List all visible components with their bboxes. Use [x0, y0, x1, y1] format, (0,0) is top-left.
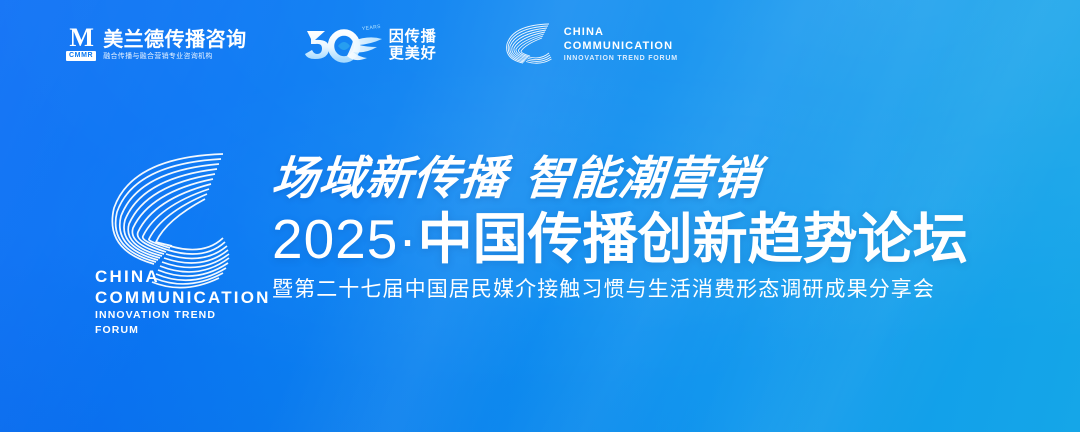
- anniversary-logo: YEARS 因传播 更美好: [303, 21, 437, 67]
- event-slogan: 场域新传播智能潮营销: [270, 152, 970, 204]
- cmmr-tag: CMMR: [66, 51, 96, 61]
- cmmr-logo: M CMMR 美兰德传播咨询 融合传播与融合营销专业咨询机构: [66, 27, 247, 61]
- forum-large-line2: COMMUNICATION: [95, 287, 250, 308]
- forum-logo-small: CHINA COMMUNICATION INNOVATION TREND FOR…: [499, 19, 678, 69]
- cmmr-name-cn: 美兰德传播咨询: [103, 29, 247, 50]
- cmmr-monogram-icon: M CMMR: [66, 27, 96, 61]
- forum-large-line1: CHINA: [95, 266, 250, 287]
- anniversary-slogan-line1: 因传播: [389, 28, 437, 44]
- anniversary-slogan-line2: 更美好: [389, 45, 437, 61]
- top-logo-strip: M CMMR 美兰德传播咨询 融合传播与融合营销专业咨询机构: [0, 0, 1080, 88]
- forum-small-line2: COMMUNICATION: [564, 40, 678, 52]
- anniversary-30-icon: YEARS: [303, 21, 383, 67]
- forum-small-wordmark: CHINA COMMUNICATION INNOVATION TREND FOR…: [564, 26, 678, 63]
- main-content: CHINA COMMUNICATION INNOVATION TREND FOR…: [88, 140, 968, 338]
- forum-logo-large: CHINA COMMUNICATION INNOVATION TREND FOR…: [88, 140, 250, 338]
- event-title: 2025·中国传播创新趋势论坛: [272, 208, 968, 270]
- forum-c-swoosh-icon: [499, 19, 555, 69]
- event-subtitle: 暨第二十七届中国居民媒介接触习惯与生活消费形态调研成果分享会: [272, 274, 968, 304]
- event-title-year: 2025·: [272, 208, 418, 270]
- cmmr-tagline: 融合传播与融合营销专业咨询机构: [103, 52, 247, 60]
- slogan-part-2: 智能潮营销: [523, 151, 763, 205]
- forum-large-line3: INNOVATION TREND FORUM: [95, 308, 250, 338]
- event-banner: M CMMR 美兰德传播咨询 融合传播与融合营销专业咨询机构: [0, 0, 1080, 432]
- forum-small-line1: CHINA: [564, 26, 678, 38]
- cmmr-letter-m: M: [69, 27, 93, 49]
- forum-large-wordmark: CHINA COMMUNICATION INNOVATION TREND FOR…: [95, 266, 250, 338]
- forum-small-line3: INNOVATION TREND FORUM: [564, 54, 678, 63]
- event-title-name: 中国传播创新趋势论坛: [418, 207, 968, 271]
- headline-group: 场域新传播智能潮营销 2025·中国传播创新趋势论坛 暨第二十七届中国居民媒介接…: [272, 140, 968, 304]
- slogan-part-1: 场域新传播: [270, 151, 510, 205]
- anniversary-slogan: 因传播 更美好: [389, 28, 437, 61]
- cmmr-wordmark: 美兰德传播咨询 融合传播与融合营销专业咨询机构: [103, 29, 247, 60]
